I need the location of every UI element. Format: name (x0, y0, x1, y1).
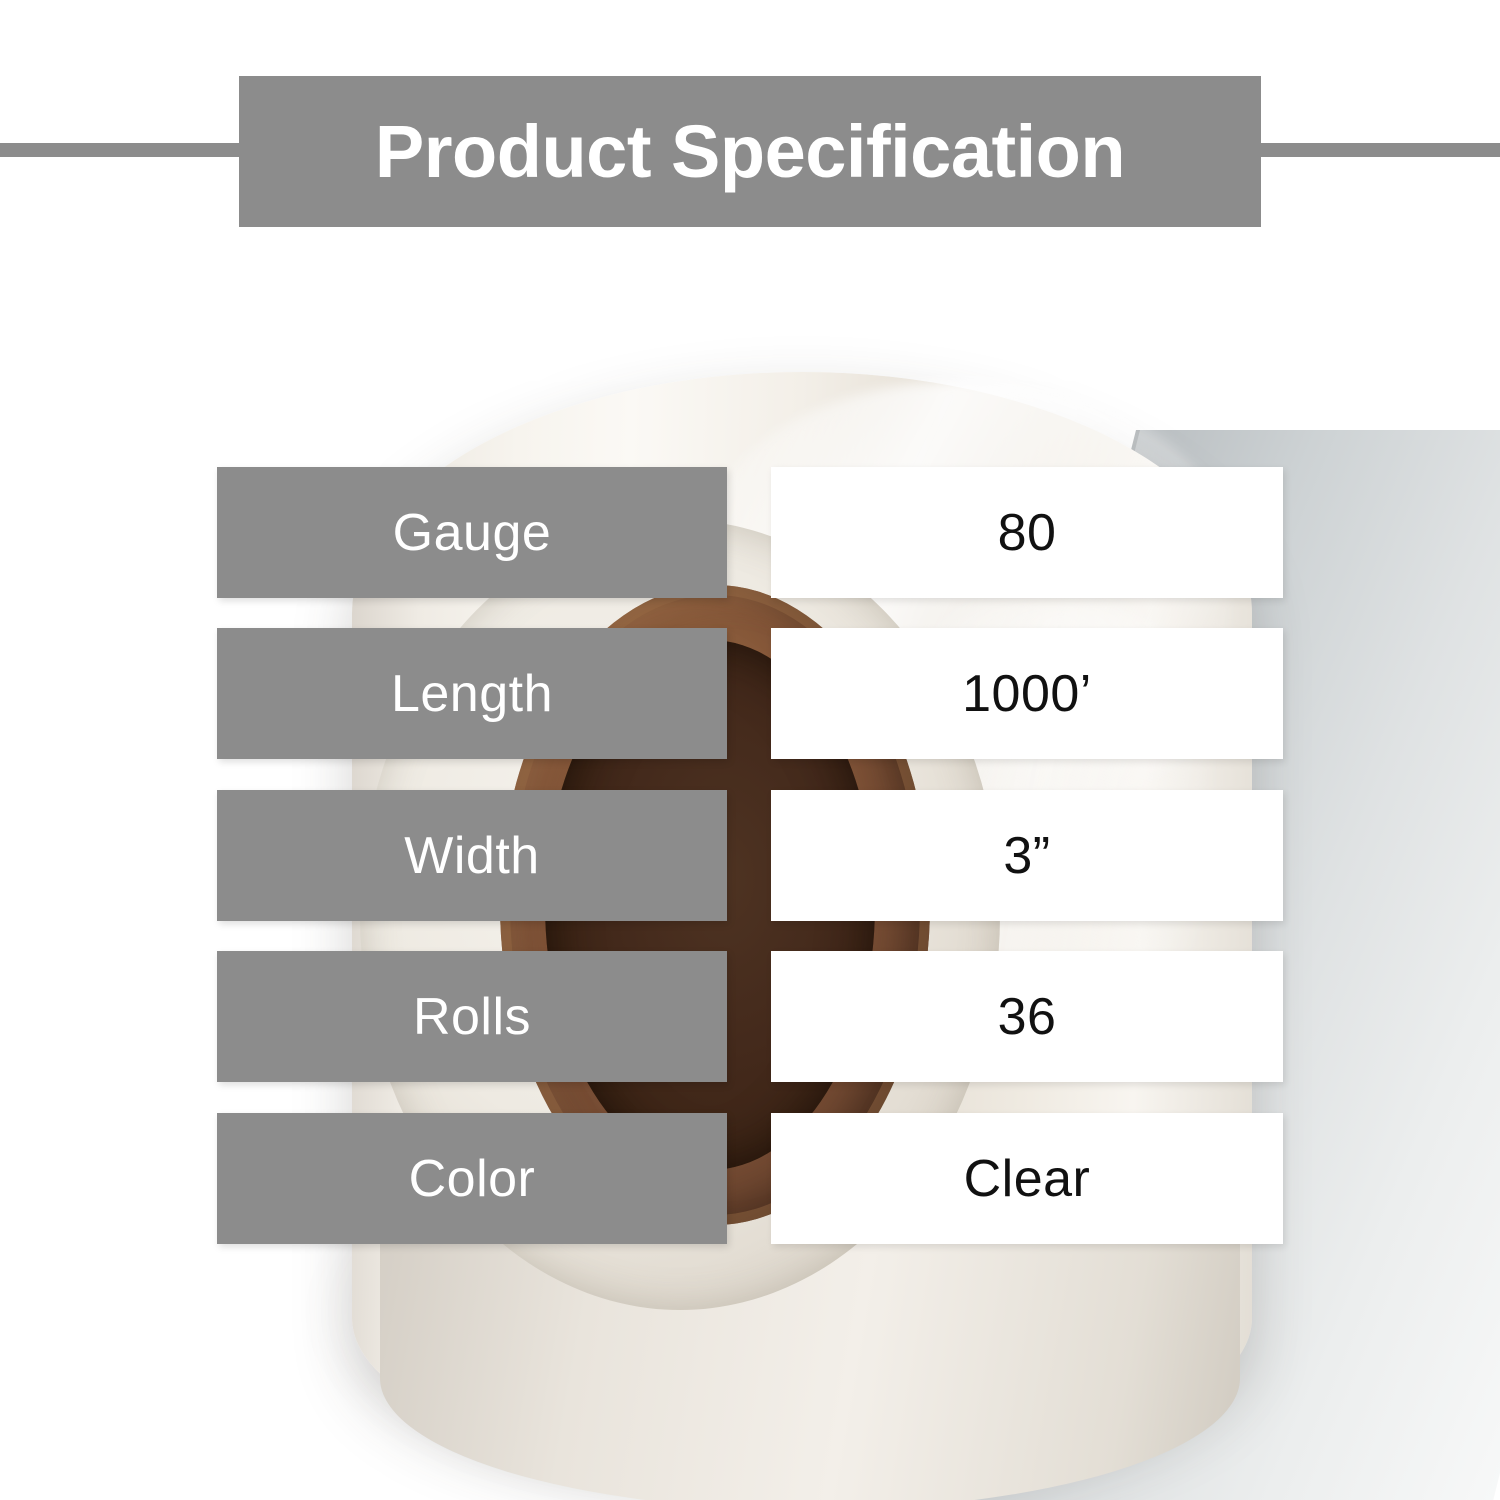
spec-label-text: Color (409, 1149, 536, 1209)
spec-value-cell: 80 (771, 467, 1283, 598)
spec-value-cell: 1000’ (771, 628, 1283, 759)
spec-label-cell: Gauge (217, 467, 727, 598)
spec-value-text: Clear (964, 1149, 1091, 1209)
spec-label-cell: Rolls (217, 951, 727, 1082)
spec-value-cell: 3” (771, 790, 1283, 921)
spec-value-text: 3” (1003, 826, 1050, 886)
spec-value-text: 1000’ (962, 664, 1092, 724)
infographic-canvas: Product Specification Gauge 80 Length 10… (0, 0, 1500, 1500)
spec-value-text: 80 (998, 503, 1057, 563)
spec-label-cell: Color (217, 1113, 727, 1244)
spec-value-cell: 36 (771, 951, 1283, 1082)
spec-value-text: 36 (998, 987, 1057, 1047)
spec-label-text: Rolls (413, 987, 531, 1047)
spec-table: Gauge 80 Length 1000’ Width 3” Roll (0, 0, 1500, 1500)
spec-label-cell: Width (217, 790, 727, 921)
spec-value-cell: Clear (771, 1113, 1283, 1244)
spec-label-text: Width (404, 826, 539, 886)
spec-label-text: Length (391, 664, 553, 724)
spec-label-text: Gauge (393, 503, 552, 563)
spec-label-cell: Length (217, 628, 727, 759)
